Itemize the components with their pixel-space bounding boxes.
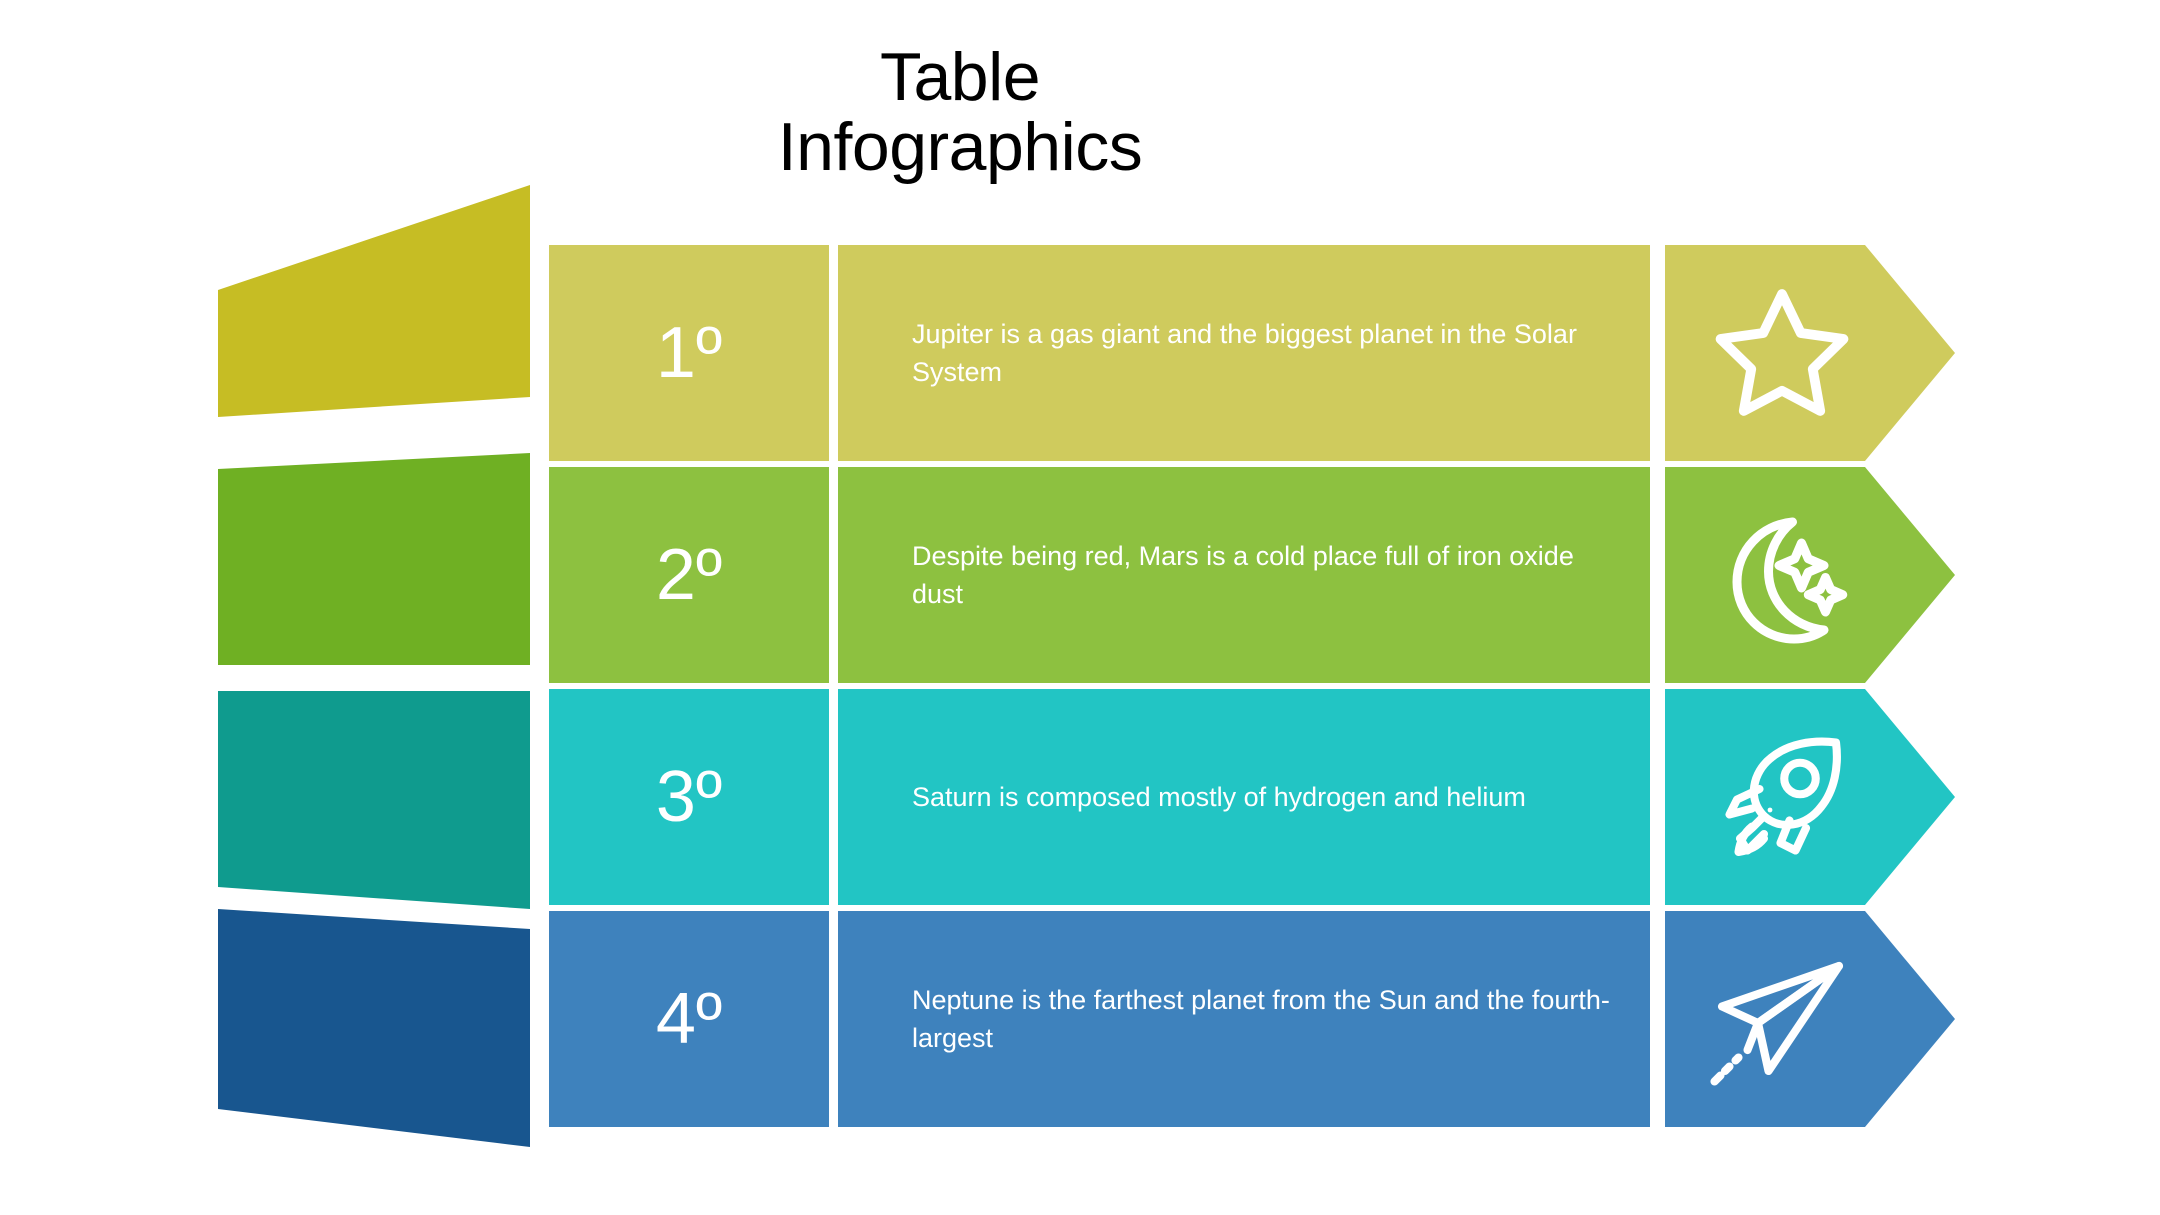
description-label: Neptune is the farthest planet from the … xyxy=(838,981,1650,1058)
rank-cell-1: 1º xyxy=(549,245,829,461)
icon-arrow-cell-2 xyxy=(1665,467,1955,683)
star-icon xyxy=(1707,279,1857,429)
rank-cell-4: 4º xyxy=(549,911,829,1127)
description-cell-2: Despite being red, Mars is a cold place … xyxy=(838,467,1650,683)
moon-stars-icon xyxy=(1707,501,1857,651)
page-title: Table Infographics xyxy=(560,42,1360,182)
icon-arrow-cell-3 xyxy=(1665,689,1955,905)
rank-label: 4º xyxy=(656,983,722,1055)
description-label: Despite being red, Mars is a cold place … xyxy=(838,537,1650,614)
icon-arrow-cell-4 xyxy=(1665,911,1955,1127)
description-cell-3: Saturn is composed mostly of hydrogen an… xyxy=(838,689,1650,905)
description-cell-4: Neptune is the farthest planet from the … xyxy=(838,911,1650,1127)
description-label: Saturn is composed mostly of hydrogen an… xyxy=(838,778,1556,816)
rank-label: 1º xyxy=(656,317,722,389)
description-cell-1: Jupiter is a gas giant and the biggest p… xyxy=(838,245,1650,461)
infographic-canvas: Table Infographics 1º Jupiter is a gas g… xyxy=(0,0,2160,1215)
rank-label: 2º xyxy=(656,539,722,611)
icon-arrow-cell-1 xyxy=(1665,245,1955,461)
rank-cell-2: 2º xyxy=(549,467,829,683)
table-row: 4º Neptune is the farthest planet from t… xyxy=(0,911,2160,1127)
paper-plane-icon xyxy=(1707,945,1857,1095)
rank-cell-3: 3º xyxy=(549,689,829,905)
left-wedge-rank-4 xyxy=(218,851,530,1191)
description-label: Jupiter is a gas giant and the biggest p… xyxy=(838,315,1650,392)
rank-label: 3º xyxy=(656,761,722,833)
rocket-icon xyxy=(1707,723,1857,873)
